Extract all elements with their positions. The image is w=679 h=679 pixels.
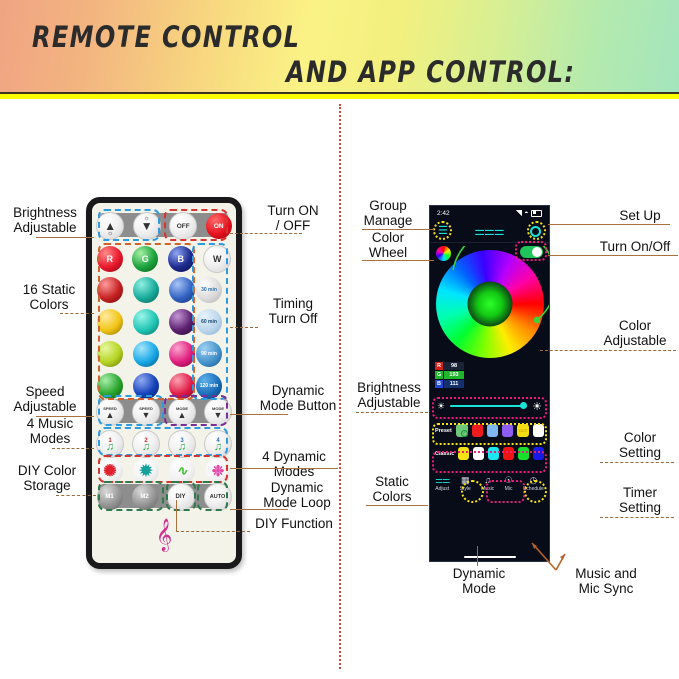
label-text: 4 Dynamic xyxy=(262,449,326,464)
label-color-setting: Color Setting xyxy=(604,430,676,460)
label-text: Mic Sync xyxy=(579,581,634,596)
leader-static-colors-app xyxy=(366,505,428,506)
rgb-value-r: 98 xyxy=(444,362,464,370)
label-text: Brightness xyxy=(13,205,77,220)
color-wheel-area: R 98 G 193 B 111 xyxy=(430,243,549,393)
label-text: 16 Static xyxy=(23,282,76,297)
leader-dynbtn xyxy=(230,414,288,415)
leader-onoff xyxy=(230,233,302,234)
header-banner: REMOTE CONTROL AND APP CONTROL: xyxy=(0,0,679,99)
rgb-row-blue: B 111 xyxy=(435,380,464,388)
label-text: Color xyxy=(619,318,651,333)
label-4-dynamic-modes: 4 Dynamic Modes xyxy=(248,449,340,479)
leader-music-mic-arrows xyxy=(490,540,580,572)
label-text: Set Up xyxy=(619,208,660,223)
label-turn-on-off-app: Turn On/Off xyxy=(592,239,678,254)
label-text: Colors xyxy=(372,489,411,504)
remote-control-body: ▲☼ ☼▼ OFF ON R G B W xyxy=(86,197,242,569)
leader-diy-storage xyxy=(56,495,96,496)
leader-diyfunc xyxy=(176,531,250,532)
label-text: Group xyxy=(369,198,407,213)
highlight-dynamic xyxy=(98,455,228,483)
leader-color-wheel xyxy=(362,260,434,261)
label-text: Turn ON xyxy=(267,203,318,218)
label-diy-function: DIY Function xyxy=(248,516,340,531)
leader-timing xyxy=(230,327,258,328)
label-dynamic-mode-button: Dynamic Mode Button xyxy=(248,383,348,413)
label-color-adjustable: Color Adjustable xyxy=(594,318,676,348)
leader-turn-onoff-app xyxy=(548,255,678,256)
highlight-group-manage xyxy=(433,221,452,240)
label-text: Color xyxy=(372,230,404,245)
label-text: 4 Music xyxy=(27,416,74,431)
leader-dynmodes xyxy=(230,468,338,469)
leader-color-adjustable xyxy=(540,350,676,351)
highlight-mode xyxy=(164,395,228,426)
label-text: Dynamic xyxy=(271,480,324,495)
label-text: Turn Off xyxy=(269,311,318,326)
rgb-key-b: B xyxy=(435,380,443,388)
highlight-diy-storage xyxy=(98,481,164,511)
highlight-speed xyxy=(98,395,164,426)
label-color-wheel: Color Wheel xyxy=(352,230,424,260)
status-time: 2:42 xyxy=(437,210,450,217)
highlight-setup xyxy=(527,221,546,240)
rgb-key-r: R xyxy=(435,362,443,370)
highlight-schedule-nav xyxy=(524,480,547,503)
leader-brightness xyxy=(36,237,94,238)
leader-music xyxy=(52,448,94,449)
rgb-readout: R 98 G 193 B 111 xyxy=(435,362,464,389)
label-text: Mode xyxy=(462,581,496,596)
rgb-value-b: 111 xyxy=(444,380,464,388)
label-text: Wheel xyxy=(369,245,407,260)
label-text: Mode Button xyxy=(260,398,337,413)
highlight-power-toggle xyxy=(515,241,547,261)
header-title-line1: REMOTE CONTROL xyxy=(32,20,300,54)
phone-status-bar: 2:42 ◓ xyxy=(430,206,549,220)
highlight-timing xyxy=(192,243,228,400)
highlight-onoff xyxy=(164,209,228,241)
highlight-style-nav xyxy=(461,480,484,503)
highlight-music xyxy=(98,427,228,456)
leader-app-brightness xyxy=(356,412,428,413)
label-text: Timer xyxy=(623,485,657,500)
label-text: Colors xyxy=(29,297,68,312)
nav-label-adjust: Adjust xyxy=(435,486,449,492)
wifi-icon: ◓ xyxy=(524,210,528,217)
leader-diyfunc-vertical xyxy=(176,500,177,532)
music-clef-logo: 𝄞 xyxy=(156,521,173,549)
rgb-row-green: G 193 xyxy=(435,371,464,379)
highlight-music-mic-nav xyxy=(486,480,525,503)
label-text: Brightness xyxy=(357,380,421,395)
label-text: Modes xyxy=(30,431,71,446)
label-text: Timing xyxy=(273,296,313,311)
label-text: Adjustable xyxy=(603,333,666,348)
label-timing-turn-off: Timing Turn Off xyxy=(248,296,338,326)
color-arc-slider[interactable] xyxy=(429,246,550,368)
label-app-brightness: Brightness Adjustable xyxy=(350,380,428,410)
label-text: / OFF xyxy=(276,218,311,233)
label-text: DIY Color xyxy=(18,463,76,478)
phone-app-screen: 2:42 ◓ ☰ ⚌⚌⚌ R 98 G xyxy=(429,205,550,562)
highlight-auto-button xyxy=(197,481,228,511)
label-text: Manage xyxy=(364,213,413,228)
rgb-row-red: R 98 xyxy=(435,362,464,370)
label-4-music-modes: 4 Music Modes xyxy=(10,416,90,446)
label-text: Adjustable xyxy=(13,220,76,235)
label-text: Turn On/Off xyxy=(600,239,671,254)
label-brightness-adjustable: Brightness Adjustable xyxy=(2,205,88,235)
highlight-brightness-slider xyxy=(432,397,547,419)
label-text: Storage xyxy=(23,478,70,493)
sliders-icon[interactable]: ⚌⚌⚌ xyxy=(474,225,503,237)
leader-static xyxy=(60,313,94,314)
adjust-icon: ⚌⚌ xyxy=(435,476,449,485)
label-text: Mode Loop xyxy=(263,495,331,510)
label-turn-on-off: Turn ON / OFF xyxy=(248,203,338,233)
label-text: Dynamic xyxy=(272,383,325,398)
label-timer-setting: Timer Setting xyxy=(604,485,676,515)
label-set-up: Set Up xyxy=(608,208,672,223)
highlight-brightness xyxy=(98,209,160,241)
leader-timer-setting xyxy=(600,517,674,518)
label-text: Setting xyxy=(619,445,661,460)
rgb-value-g: 193 xyxy=(444,371,464,379)
label-text: Static xyxy=(375,474,409,489)
label-text: Music and xyxy=(575,566,637,581)
highlight-diy-button xyxy=(166,481,196,511)
leader-color-setting xyxy=(600,462,674,463)
leader-dynamic-mode-app xyxy=(477,546,478,566)
label-speed-adjustable: Speed Adjustable xyxy=(2,384,88,414)
highlight-static-colors xyxy=(98,243,195,400)
leader-setup xyxy=(548,224,670,225)
signal-icon xyxy=(516,210,522,216)
header-title-line2: AND APP CONTROL: xyxy=(286,55,575,89)
label-text: Modes xyxy=(274,464,315,479)
rgb-key-g: G xyxy=(435,371,443,379)
label-text: Adjustable xyxy=(357,395,420,410)
label-text: Setting xyxy=(619,500,661,515)
label-group-manage: Group Manage xyxy=(352,198,424,228)
label-text: Adjustable xyxy=(13,399,76,414)
label-text: Color xyxy=(624,430,656,445)
label-text: Speed xyxy=(25,384,64,399)
highlight-classic-row xyxy=(432,451,547,473)
label-dynamic-mode-loop: Dynamic Mode Loop xyxy=(248,480,346,510)
label-static-colors-app: Static Colors xyxy=(356,474,428,504)
label-text: DIY Function xyxy=(255,516,333,531)
highlight-preset-row xyxy=(432,423,547,445)
nav-item-adjust[interactable]: ⚌⚌ Adjust xyxy=(435,476,449,492)
label-16-static-colors: 16 Static Colors xyxy=(8,282,90,312)
leader-dynloop xyxy=(230,509,288,510)
label-diy-color-storage: DIY Color Storage xyxy=(4,463,90,493)
battery-icon xyxy=(531,210,542,217)
